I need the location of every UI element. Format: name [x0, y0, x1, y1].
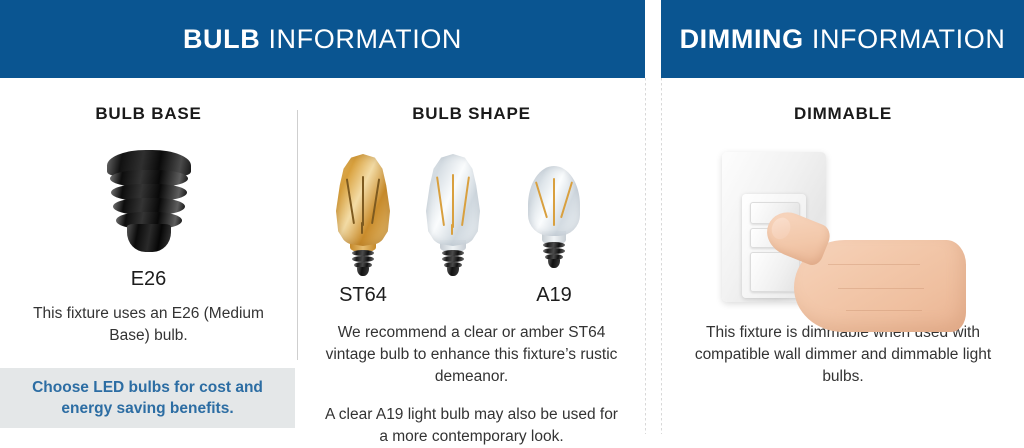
- bulb-information-title-rest: INFORMATION: [260, 24, 462, 54]
- hand-pressing-switch-icon: [766, 216, 966, 336]
- amber-st64-bulb-icon: [336, 154, 390, 276]
- led-callout-text: Choose LED bulbs for cost and energy sav…: [25, 377, 270, 419]
- bulb-base-label: E26: [0, 268, 297, 291]
- dimming-information-title: DIMMING INFORMATION: [680, 24, 1006, 55]
- bulb-shape-title: BULB SHAPE: [298, 104, 645, 124]
- bulb-caption-st64: ST64: [334, 284, 392, 307]
- amber-st64-envelope: [336, 154, 390, 246]
- bulb-shape-art: [298, 136, 645, 276]
- bulb-base-column: BULB BASE E26 This fixture uses an E26 (…: [0, 78, 297, 347]
- e26-base-art: [0, 142, 297, 254]
- clear-st64-glass: [426, 154, 480, 252]
- bulb-shape-column: BULB SHAPE: [298, 78, 645, 448]
- content-area: BULB BASE E26 This fixture uses an E26 (…: [0, 78, 1024, 434]
- amber-st64-glass: [336, 154, 390, 252]
- clear-a19-envelope: [528, 166, 580, 236]
- led-callout-box: Choose LED bulbs for cost and energy sav…: [0, 368, 295, 428]
- clear-st64-cap: [442, 250, 464, 276]
- amber-st64-cap: [352, 250, 374, 276]
- clear-a19-bulb-icon: [528, 166, 580, 268]
- dimming-information-title-rest: INFORMATION: [804, 24, 1006, 54]
- clear-st64-envelope: [426, 154, 480, 246]
- dotted-divider-left: [645, 78, 646, 434]
- finger-nail: [769, 215, 794, 242]
- bulb-base-title: BULB BASE: [0, 104, 297, 124]
- bulb-shape-copy-secondary: A clear A19 light bulb may also be used …: [319, 404, 624, 448]
- bulb-captions: ST64 A19: [298, 284, 645, 310]
- dimming-information-header-bar: DIMMING INFORMATION: [661, 0, 1024, 78]
- clear-a19-cap: [543, 242, 565, 268]
- clear-st64-bulb-icon: [426, 154, 480, 276]
- bulb-base-copy: This fixture uses an E26 (Medium Base) b…: [24, 303, 274, 347]
- bulb-caption-a19: A19: [526, 284, 582, 307]
- e26-contact-tip: [127, 224, 171, 252]
- bulb-information-header-bar: BULB INFORMATION: [0, 0, 645, 78]
- bulb-information-title-strong: BULB: [183, 24, 260, 54]
- dimming-information-title-strong: DIMMING: [680, 24, 804, 54]
- bulb-information-title: BULB INFORMATION: [183, 24, 462, 55]
- bulb-shape-copy-primary: We recommend a clear or amber ST64 vinta…: [319, 322, 624, 388]
- header-row: BULB INFORMATION DIMMING INFORMATION: [0, 0, 1024, 78]
- clear-a19-glass: [528, 166, 580, 244]
- wall-dimmer-switch-with-hand-icon: [662, 138, 1024, 320]
- dimmable-title: DIMMABLE: [662, 104, 1024, 124]
- e26-screw-base-icon: [103, 150, 195, 254]
- dimming-column: DIMMABLE This fixture: [662, 78, 1024, 388]
